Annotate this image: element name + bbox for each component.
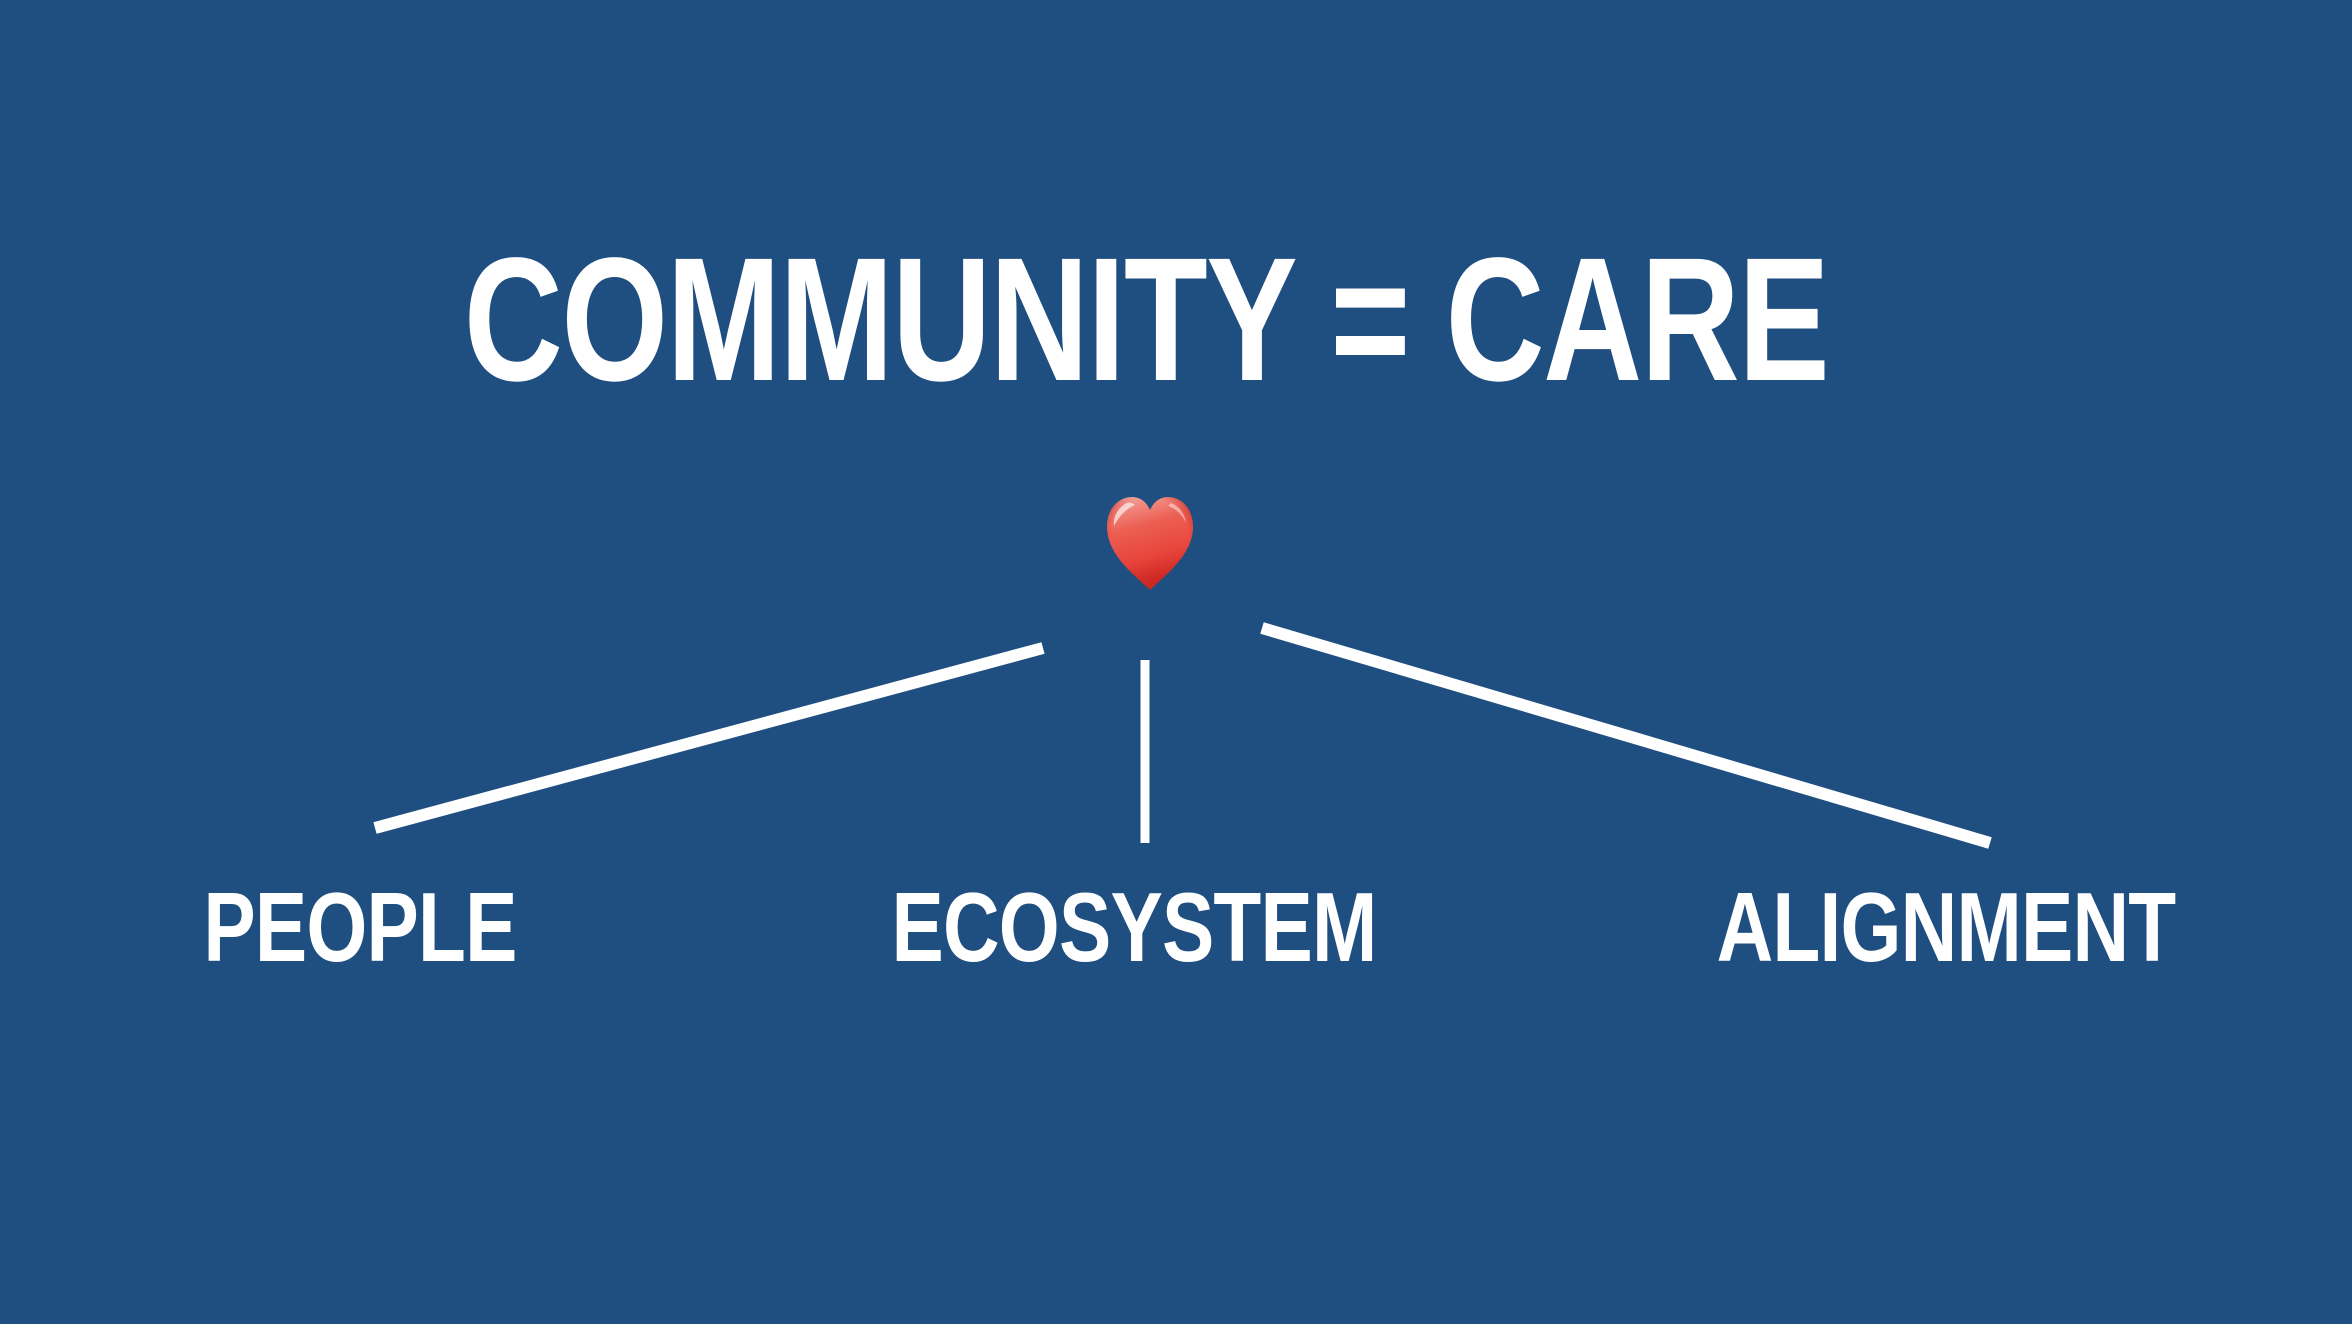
connector-left-line — [375, 648, 1043, 828]
slide-title: COMMUNITY = CARE — [252, 232, 2040, 408]
slide-canvas: COMMUNITY = CARE — [0, 0, 2352, 1324]
branch-label-ecosystem: ECOSYSTEM — [854, 878, 1414, 976]
branch-label-people: PEOPLE — [160, 878, 560, 976]
connector-lines-group — [0, 0, 2352, 1324]
branch-label-alignment: ALIGNMENT — [1666, 878, 2226, 976]
red-heart-icon — [1103, 492, 1197, 592]
connector-right-line — [1262, 628, 1990, 843]
